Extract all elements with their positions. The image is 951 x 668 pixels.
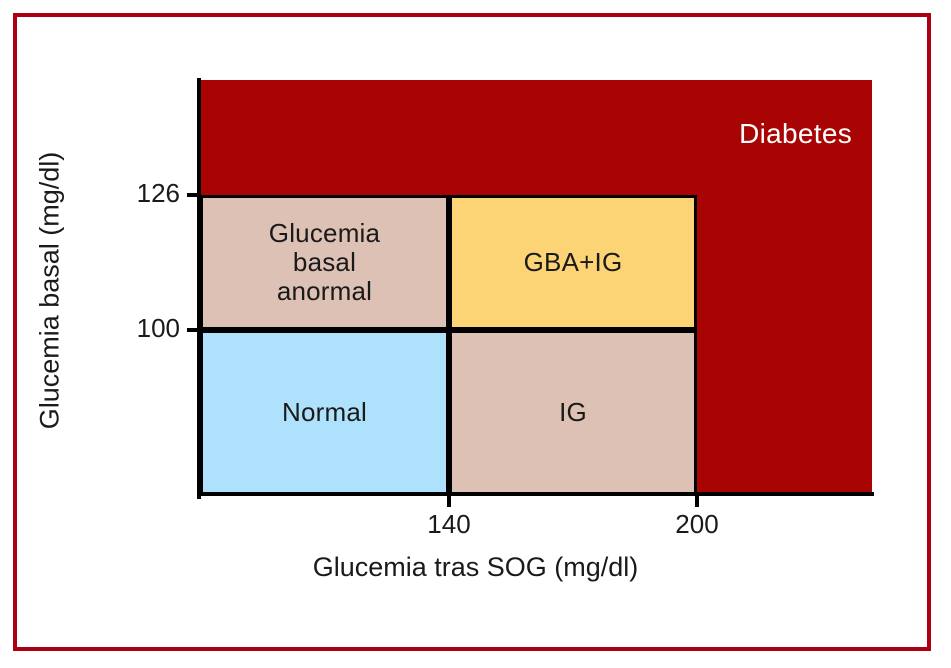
normal-region: Normal bbox=[200, 330, 449, 495]
x-axis-spine bbox=[197, 492, 874, 496]
ig-label: IG bbox=[559, 398, 587, 427]
glucemia-basal-anormal-label: Glucemia basal anormal bbox=[269, 219, 380, 306]
y-tick-label-100: 100 bbox=[100, 313, 180, 344]
gba-ig-region: GBA+IG bbox=[449, 195, 697, 330]
glucemia-basal-anormal-region: Glucemia basal anormal bbox=[200, 195, 449, 330]
y-tick-mark-126 bbox=[187, 193, 200, 197]
gba-label-line-2: basal bbox=[293, 247, 356, 277]
x-tick-mark-200 bbox=[695, 494, 699, 507]
gba-label-line-1: Glucemia bbox=[269, 218, 380, 248]
gba-label-line-3: anormal bbox=[277, 276, 372, 306]
y-axis-title: Glucemia basal (mg/dl) bbox=[35, 61, 66, 521]
x-tick-label-140: 140 bbox=[409, 509, 489, 540]
plot-area: Diabetes Glucemia basal anormal GBA+IG N… bbox=[200, 80, 872, 495]
figure-root: Diabetes Glucemia basal anormal GBA+IG N… bbox=[0, 0, 951, 668]
ig-region: IG bbox=[449, 330, 697, 495]
y-axis-spine bbox=[197, 78, 201, 499]
y-tick-mark-100 bbox=[187, 328, 200, 332]
y-tick-label-126: 126 bbox=[100, 178, 180, 209]
x-axis-title: Glucemia tras SOG (mg/dl) bbox=[0, 552, 951, 583]
gba-ig-label: GBA+IG bbox=[524, 248, 623, 277]
diabetes-region-label: Diabetes bbox=[739, 118, 852, 150]
normal-label: Normal bbox=[282, 398, 367, 427]
x-tick-label-200: 200 bbox=[657, 509, 737, 540]
x-tick-mark-140 bbox=[447, 494, 451, 507]
